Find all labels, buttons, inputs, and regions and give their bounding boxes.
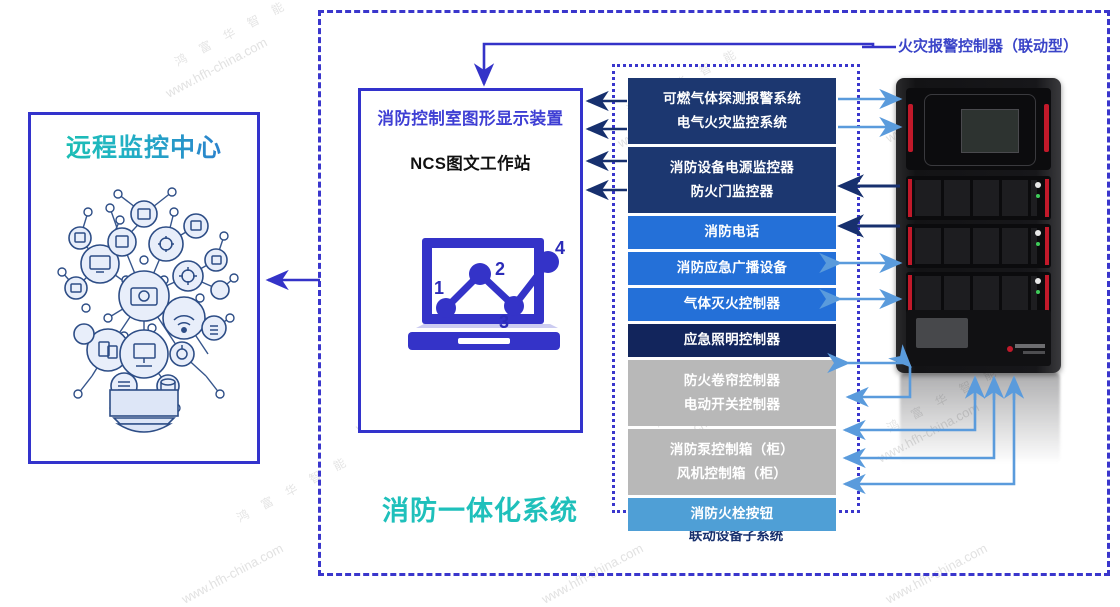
watermark: www.hfh-china.com: [179, 540, 286, 606]
graphic-display-device-title: 消防控制室图形显示装置: [358, 105, 583, 129]
cabinet-brand-submark: [1023, 351, 1045, 354]
cabinet-module-row: [906, 176, 1051, 220]
svg-text:1: 1: [434, 278, 444, 298]
cabinet-top-panel: [906, 88, 1051, 170]
module-led: [1035, 278, 1041, 284]
cabinet-brand-mark: [1015, 344, 1045, 348]
cabinet-indicator-left: [908, 104, 913, 152]
subsystem-box-label: 应急照明控制器: [684, 333, 781, 347]
subsystem-box[interactable]: 消防泵控制箱（柜）风机控制箱（柜）: [628, 429, 836, 495]
subsystem-box[interactable]: 可燃气体探测报警系统电气火灾监控系统: [628, 78, 836, 144]
module-bar-left: [908, 227, 912, 265]
subsystem-box[interactable]: 消防应急广播设备: [628, 252, 836, 285]
module-led-green: [1036, 290, 1040, 294]
remote-monitoring-center-title: 远程监控中心: [28, 128, 260, 164]
svg-text:2: 2: [495, 259, 505, 279]
module-bar-right: [1045, 275, 1049, 313]
module-bar-right: [1045, 179, 1049, 217]
module-bar-right: [1045, 227, 1049, 265]
subsystem-box[interactable]: 气体灭火控制器: [628, 288, 836, 321]
subsystem-box[interactable]: 防火卷帘控制器电动开关控制器: [628, 360, 836, 426]
fire-alarm-controller-label: 火灾报警控制器（联动型）: [898, 35, 1078, 56]
cabinet-bottom-panel: [906, 310, 1051, 366]
module-led: [1035, 230, 1041, 236]
svg-text:3: 3: [499, 312, 509, 332]
cabinet-access-pad: [916, 318, 968, 348]
cabinet-lcd-screen: [961, 109, 1019, 153]
subsystem-box-label: 防火卷帘控制器: [684, 374, 781, 388]
cabinet-body: [896, 78, 1061, 373]
subsystem-box-label: 电气火灾监控系统: [677, 116, 787, 130]
module-grid: [915, 180, 1037, 216]
cabinet-bezel: [924, 94, 1036, 166]
module-bar-left: [908, 179, 912, 217]
svg-text:4: 4: [555, 238, 565, 258]
module-led-green: [1036, 194, 1040, 198]
system-title: 消防一体化系统: [330, 489, 630, 528]
subsystem-box[interactable]: 消防火栓按钮: [628, 498, 836, 531]
subsystem-box[interactable]: 应急照明控制器: [628, 324, 836, 357]
fire-alarm-control-cabinet: [896, 78, 1068, 378]
watermark-cn: 鸿 富 华 智 能: [171, 0, 291, 70]
subsystem-box-label: 防火门监控器: [691, 185, 774, 199]
cabinet-indicator-right: [1044, 104, 1049, 152]
cabinet-reflection: [900, 372, 1060, 464]
module-grid: [915, 228, 1037, 264]
subsystem-box-label: 风机控制箱（柜）: [677, 467, 787, 481]
cabinet-module-row: [906, 224, 1051, 268]
subsystem-box-list: 可燃气体探测报警系统电气火灾监控系统消防设备电源监控器防火门监控器消防电话消防应…: [628, 78, 836, 534]
subsystem-box[interactable]: 消防设备电源监控器防火门监控器: [628, 147, 836, 213]
ncs-workstation-subtitle: NCS图文工作站: [358, 150, 583, 174]
cabinet-brand-dot: [1007, 346, 1013, 352]
subsystem-box[interactable]: 消防电话: [628, 216, 836, 249]
module-grid: [915, 276, 1037, 312]
laptop-line-chart-icon: 1 2 3 4: [398, 232, 578, 368]
subsystem-box-label: 消防泵控制箱（柜）: [670, 443, 794, 457]
subsystem-box-label: 可燃气体探测报警系统: [663, 92, 801, 106]
module-led-green: [1036, 242, 1040, 246]
module-bar-left: [908, 275, 912, 313]
module-led: [1035, 182, 1041, 188]
diagram-canvas: www.hfh-china.com 鸿 富 华 智 能 www.hfh-chin…: [0, 0, 1120, 596]
subsystem-box-label: 消防电话: [704, 225, 759, 239]
subsystem-box-label: 电动开关控制器: [684, 398, 781, 412]
subsystem-box-label: 消防火栓按钮: [691, 507, 774, 521]
subsystem-box-label: 消防应急广播设备: [677, 261, 787, 275]
iot-network-lightbulb-icon: [48, 168, 240, 436]
subsystem-box-label: 消防设备电源监控器: [670, 161, 794, 175]
watermark: www.hfh-china.com: [163, 34, 270, 100]
subsystem-box-label: 气体灭火控制器: [684, 297, 781, 311]
